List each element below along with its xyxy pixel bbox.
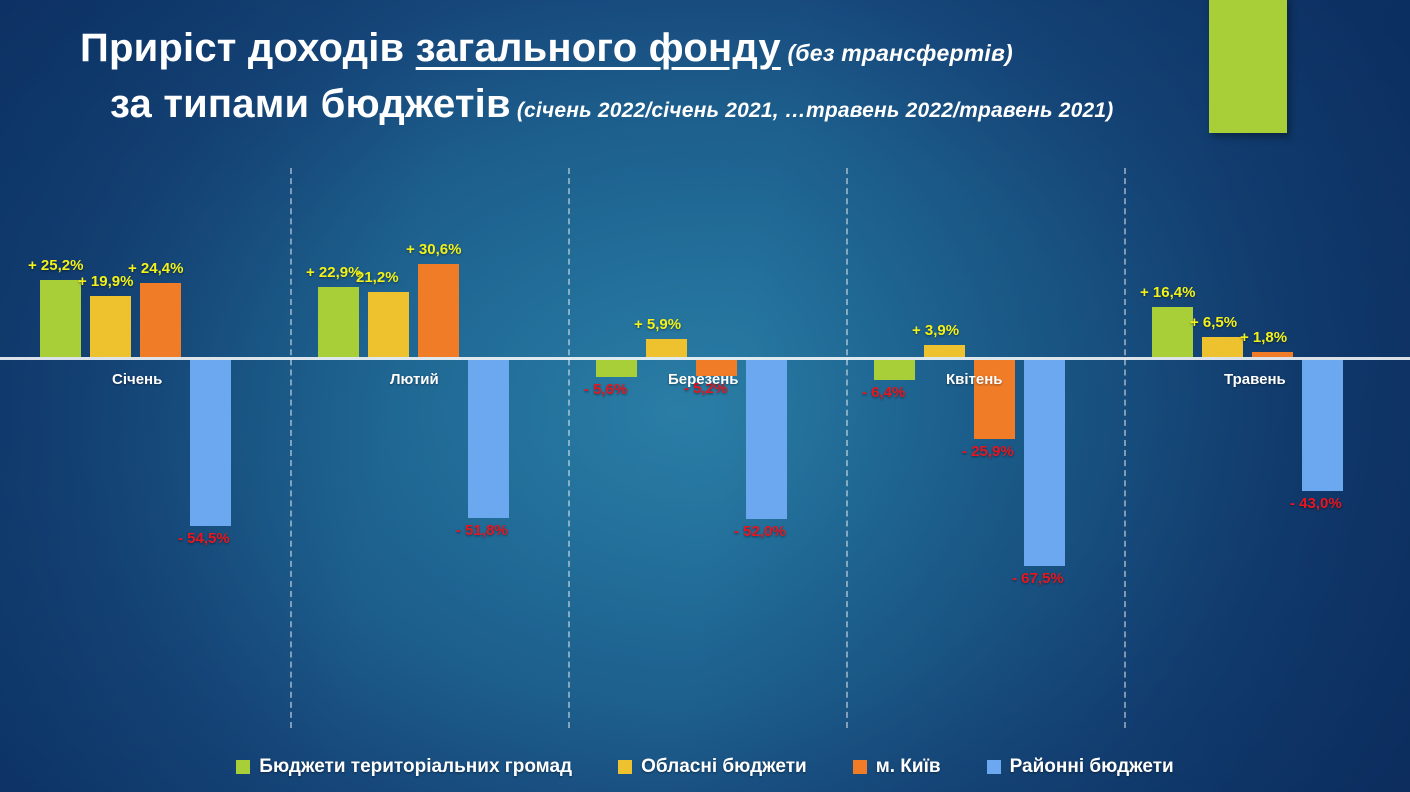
legend-swatch-icon <box>987 760 1001 774</box>
legend-label: Районні бюджети <box>1010 756 1174 778</box>
bar-value-label: 21,2% <box>356 269 399 286</box>
bar-value-label: + 30,6% <box>406 241 461 258</box>
bar <box>1152 307 1193 357</box>
legend-item[interactable]: Обласні бюджети <box>618 756 807 778</box>
title-block: Приріст доходів загального фонду (без тр… <box>0 26 1260 134</box>
bar <box>318 287 359 357</box>
bar <box>746 360 787 519</box>
slide-canvas: Приріст доходів загального фонду (без тр… <box>0 0 1410 792</box>
bar-value-label: - 43,0% <box>1290 495 1342 512</box>
bar-value-label: + 5,9% <box>634 316 681 333</box>
bar-value-label: - 67,5% <box>1012 570 1064 587</box>
bar-value-label: + 3,9% <box>912 322 959 339</box>
group-separator-3 <box>846 168 848 728</box>
legend-swatch-icon <box>236 760 250 774</box>
bar <box>90 296 131 357</box>
group-separator-2 <box>568 168 570 728</box>
title-part-plain: Приріст доходів <box>80 26 416 70</box>
title-part-underlined: загального фонду <box>416 26 781 70</box>
title-line2-main: за типами бюджетів <box>110 82 511 126</box>
category-label: Березень <box>668 371 739 388</box>
title-part-note: (без трансфертів) <box>781 40 1013 66</box>
legend-swatch-icon <box>618 760 632 774</box>
bar <box>1302 360 1343 491</box>
bar-value-label: + 1,8% <box>1240 329 1287 346</box>
bar-group: + 25,2%+ 19,9%+ 24,4%- 54,5%Січень <box>40 168 231 728</box>
bar <box>924 345 965 357</box>
page-title-line-1: Приріст доходів загального фонду (без тр… <box>0 26 1260 75</box>
bar <box>1024 360 1065 566</box>
legend-item[interactable]: Бюджети територіальних громад <box>236 756 572 778</box>
category-label: Лютий <box>390 371 439 388</box>
legend-item[interactable]: Районні бюджети <box>987 756 1174 778</box>
category-label: Січень <box>112 371 162 388</box>
title-line2-note: (січень 2022/січень 2021, …травень 2022/… <box>511 99 1114 122</box>
zero-axis-line <box>0 357 1410 360</box>
bar <box>646 339 687 357</box>
bar-value-label: - 25,9% <box>962 443 1014 460</box>
bar-value-label: + 22,9% <box>306 264 361 281</box>
bar <box>368 292 409 357</box>
legend-label: м. Київ <box>876 756 941 778</box>
chart-legend: Бюджети територіальних громадОбласні бюд… <box>0 750 1410 784</box>
bar-group: - 6,4%+ 3,9%- 25,9%- 67,5%Квітень <box>874 168 1065 728</box>
bar-group: + 16,4%+ 6,5%+ 1,8%- 43,0%Травень <box>1152 168 1343 728</box>
bar-value-label: + 24,4% <box>128 260 183 277</box>
bar <box>1202 337 1243 357</box>
category-label: Квітень <box>946 371 1003 388</box>
legend-item[interactable]: м. Київ <box>853 756 941 778</box>
bar-value-label: + 19,9% <box>78 273 133 290</box>
bar-value-label: + 6,5% <box>1190 314 1237 331</box>
bar-value-label: - 6,4% <box>862 384 905 401</box>
bar-value-label: - 52,0% <box>734 523 786 540</box>
bar <box>596 360 637 377</box>
bar-value-label: - 54,5% <box>178 530 230 547</box>
legend-label: Бюджети територіальних громад <box>259 756 572 778</box>
bar-group: - 5,6%+ 5,9%- 5,2%- 52,0%Березень <box>596 168 787 728</box>
bar-value-label: + 25,2% <box>28 257 83 274</box>
bar-group: + 22,9%21,2%+ 30,6%- 51,8%Лютий <box>318 168 509 728</box>
bar <box>140 283 181 357</box>
bar <box>190 360 231 526</box>
bar <box>874 360 915 380</box>
bar <box>418 264 459 357</box>
bar-value-label: - 51,8% <box>456 522 508 539</box>
bar-value-label: - 5,6% <box>584 381 627 398</box>
legend-label: Обласні бюджети <box>641 756 807 778</box>
bar <box>468 360 509 518</box>
category-label: Травень <box>1224 371 1286 388</box>
group-separator-1 <box>290 168 292 728</box>
legend-swatch-icon <box>853 760 867 774</box>
page-title-line-2: за типами бюджетів (січень 2022/січень 2… <box>0 81 1260 134</box>
bar-value-label: + 16,4% <box>1140 284 1195 301</box>
group-separator-4 <box>1124 168 1126 728</box>
chart-plot-area: + 25,2%+ 19,9%+ 24,4%- 54,5%Січень+ 22,9… <box>0 168 1410 728</box>
bar <box>40 280 81 357</box>
